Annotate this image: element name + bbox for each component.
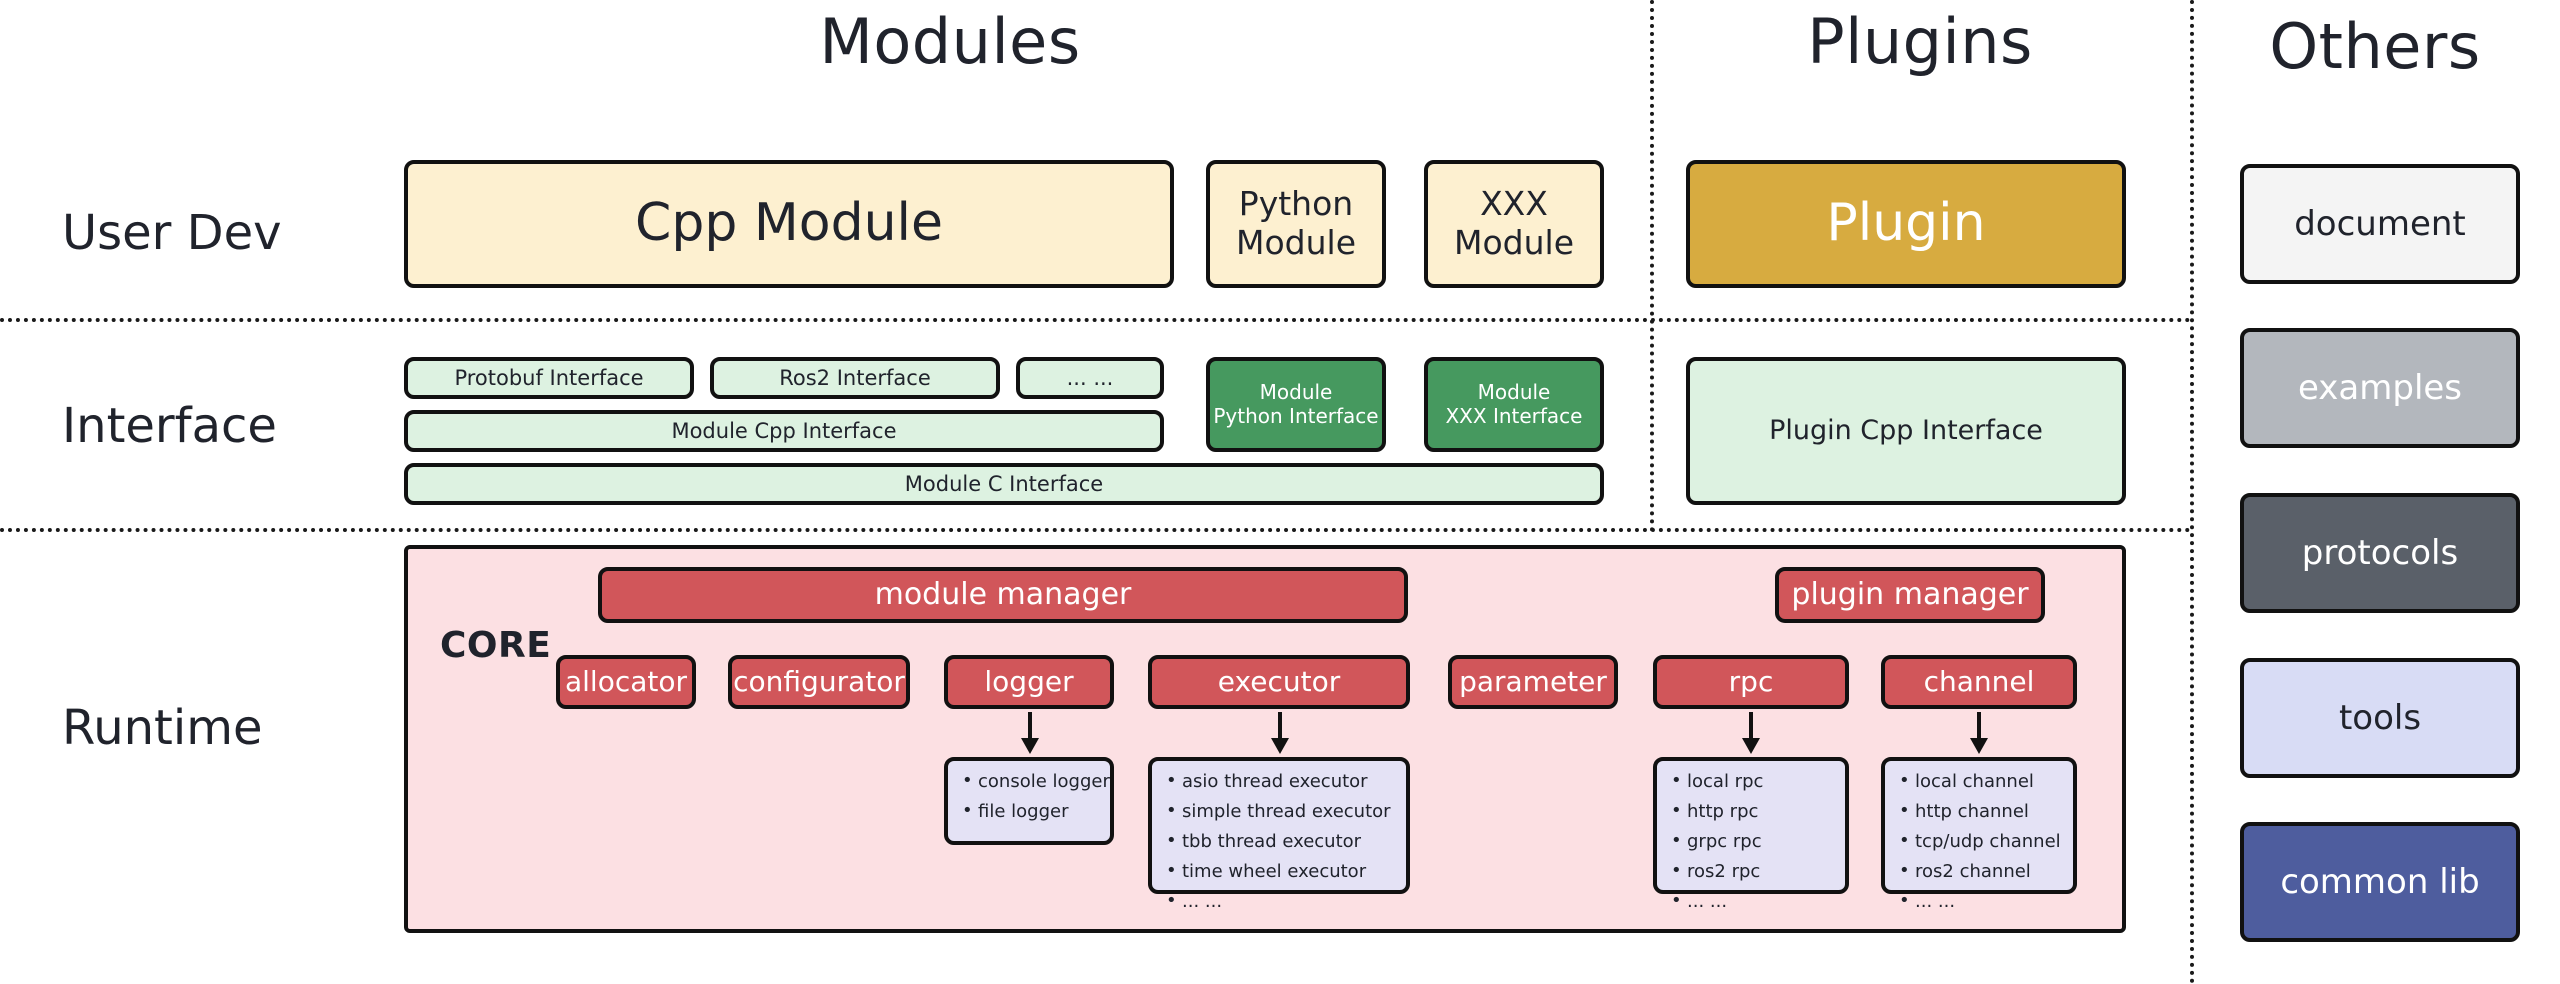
node-allocator[interactable]: allocator (556, 655, 696, 709)
node-module-python-interface[interactable]: Module Python Interface (1206, 357, 1386, 452)
node-xxx-module[interactable]: XXX Module (1424, 160, 1604, 288)
list-channel-impls: local channelhttp channeltcp/udp channel… (1881, 757, 2077, 894)
node-xxx-module-line2: Module (1454, 224, 1574, 263)
node-others-common-lib[interactable]: common lib (2240, 822, 2520, 942)
list-item: tbb thread executor (1164, 833, 1396, 851)
list-logger-impls: console loggerfile logger (944, 757, 1114, 845)
list-item: file logger (960, 803, 1100, 821)
node-module-python-interface-line1: Module (1260, 381, 1333, 405)
list-executor-impls-items: asio thread executorsimple thread execut… (1164, 773, 1396, 911)
node-others-examples[interactable]: examples (2240, 328, 2520, 448)
arrow-executor-to-list (1264, 712, 1296, 754)
node-plugin[interactable]: Plugin (1686, 160, 2126, 288)
row-label-interface: Interface (62, 398, 277, 454)
list-channel-impls-items: local channelhttp channeltcp/udp channel… (1897, 773, 2063, 911)
list-item: ... ... (1164, 893, 1396, 911)
node-cpp-module[interactable]: Cpp Module (404, 160, 1174, 288)
separator-interface-runtime (0, 528, 2192, 532)
architecture-diagram: Modules Plugins Others User Dev Interfac… (0, 0, 2560, 984)
list-item: ... ... (1669, 893, 1835, 911)
node-executor[interactable]: executor (1148, 655, 1410, 709)
arrow-logger-to-list (1014, 712, 1046, 754)
node-channel[interactable]: channel (1881, 655, 2077, 709)
separator-modules-plugins (1650, 0, 1654, 532)
list-item: simple thread executor (1164, 803, 1396, 821)
list-item: ros2 channel (1897, 863, 2063, 881)
list-item: grpc rpc (1669, 833, 1835, 851)
row-label-runtime: Runtime (62, 700, 262, 756)
separator-plugins-others (2190, 0, 2194, 984)
separator-userdev-interface (0, 318, 2192, 322)
node-logger[interactable]: logger (944, 655, 1114, 709)
list-item: ros2 rpc (1669, 863, 1835, 881)
column-title-modules: Modules (700, 5, 1200, 78)
list-item: tcp/udp channel (1897, 833, 2063, 851)
node-rpc[interactable]: rpc (1653, 655, 1849, 709)
column-title-plugins: Plugins (1660, 5, 2180, 78)
node-plugin-manager[interactable]: plugin manager (1775, 567, 2045, 623)
node-xxx-module-line1: XXX (1480, 185, 1548, 224)
node-python-module-line1: Python (1239, 185, 1353, 224)
core-label: CORE (440, 625, 551, 666)
list-item: ... ... (1897, 893, 2063, 911)
node-module-xxx-interface-line1: Module (1478, 381, 1551, 405)
list-item: console logger (960, 773, 1100, 791)
node-module-python-interface-line2: Python Interface (1213, 405, 1378, 429)
list-executor-impls: asio thread executorsimple thread execut… (1148, 757, 1410, 894)
list-item: http rpc (1669, 803, 1835, 821)
node-plugin-cpp-interface[interactable]: Plugin Cpp Interface (1686, 357, 2126, 505)
arrow-channel-to-list (1963, 712, 1995, 754)
column-title-others: Others (2200, 10, 2550, 83)
list-item: http channel (1897, 803, 2063, 821)
node-configurator[interactable]: configurator (728, 655, 910, 709)
node-module-xxx-interface[interactable]: Module XXX Interface (1424, 357, 1604, 452)
arrow-rpc-to-list (1735, 712, 1767, 754)
node-python-module-line2: Module (1236, 224, 1356, 263)
node-module-xxx-interface-line2: XXX Interface (1445, 405, 1582, 429)
list-rpc-impls-items: local rpchttp rpcgrpc rpcros2 rpc... ... (1669, 773, 1835, 911)
node-others-protocols[interactable]: protocols (2240, 493, 2520, 613)
node-parameter[interactable]: parameter (1448, 655, 1618, 709)
list-logger-impls-items: console loggerfile logger (960, 773, 1100, 821)
node-module-manager[interactable]: module manager (598, 567, 1408, 623)
node-protobuf-interface[interactable]: Protobuf Interface (404, 357, 694, 399)
node-ros2-interface[interactable]: Ros2 Interface (710, 357, 1000, 399)
node-more-interface[interactable]: ... ... (1016, 357, 1164, 399)
list-item: local channel (1897, 773, 2063, 791)
node-module-c-interface[interactable]: Module C Interface (404, 463, 1604, 505)
node-python-module[interactable]: Python Module (1206, 160, 1386, 288)
list-item: asio thread executor (1164, 773, 1396, 791)
list-rpc-impls: local rpchttp rpcgrpc rpcros2 rpc... ... (1653, 757, 1849, 894)
node-others-tools[interactable]: tools (2240, 658, 2520, 778)
row-label-user-dev: User Dev (62, 205, 282, 261)
list-item: time wheel executor (1164, 863, 1396, 881)
list-item: local rpc (1669, 773, 1835, 791)
node-module-cpp-interface[interactable]: Module Cpp Interface (404, 410, 1164, 452)
node-others-document[interactable]: document (2240, 164, 2520, 284)
